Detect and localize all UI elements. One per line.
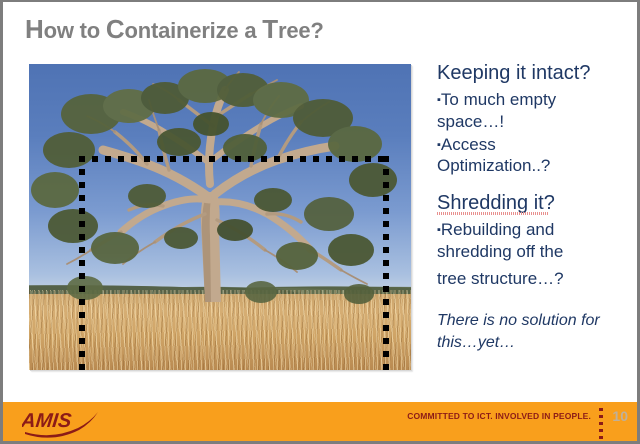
bullet-line-1: Access [441,135,496,154]
amis-logo[interactable]: AMIS [22,405,102,438]
footer-dotted-divider [599,408,603,441]
bullet-line-2: Optimization..? [437,155,633,177]
bullet-item-rebuilding-shredding: ▪Rebuilding and shredding off the tree s… [437,219,633,289]
page-title-part-1: ow to [44,18,106,43]
presentation-slide: How to Containerize a Tree? [0,0,640,444]
page-title-part-3: ree? [278,18,324,43]
closing-note-line-1: There is no solution for [437,310,633,332]
spellcheck-squiggle-underline [437,212,549,215]
page-title-part-2: ontainerize a [125,18,263,43]
tree-photo[interactable] [29,64,411,370]
bullet-line-2: shredding off the [437,241,633,263]
page-title-cap-c: C [106,14,125,44]
bullet-item-access-optimization: ▪Access Optimization..? [437,134,633,178]
section-heading-shredding-it: Shredding it? [437,192,555,215]
bullet-line-2: space…! [437,111,633,133]
eucalyptus-tree-illustration [29,64,411,370]
page-title: How to Containerize a Tree? [25,14,324,45]
section-spacer [437,178,633,192]
page-title-cap-h: H [25,14,44,44]
page-number: 10 [612,408,628,424]
note-spacer [437,290,633,310]
page-title-cap-t: T [262,14,278,44]
bullet-line-1: To much empty [441,90,556,109]
content-text-column: Keeping it intact? ▪To much empty space…… [437,62,633,353]
closing-note-line-2: this…yet… [437,332,633,354]
amis-logo-text: AMIS [22,410,73,432]
bullet-line-1: Rebuilding and [441,220,554,239]
closing-note: There is no solution for this…yet… [437,310,633,353]
footer-tagline: COMMITTED TO ICT. INVOLVED IN PEOPLE. [407,411,591,421]
slide-footer: AMIS COMMITTED TO ICT. INVOLVED IN PEOPL… [3,402,637,441]
section-heading-keeping-intact: Keeping it intact? [437,62,633,85]
section-heading-text: Shredding it? [437,192,555,214]
bullet-line-3: tree structure…? [437,268,633,290]
bullet-item-too-much-empty-space: ▪To much empty space…! [437,89,633,133]
